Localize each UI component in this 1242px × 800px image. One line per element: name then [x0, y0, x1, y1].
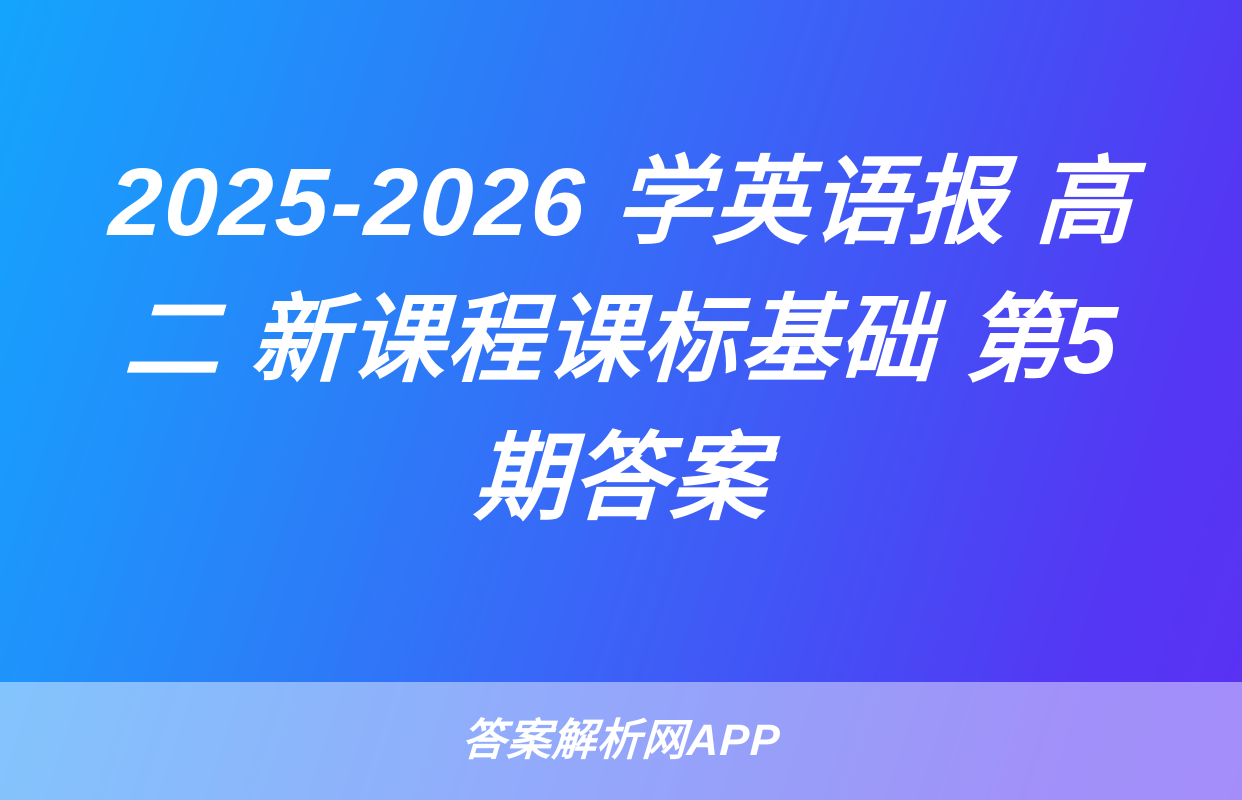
app-footer-band: 答案解析网APP	[0, 682, 1242, 800]
title-line-2: 二 新课程课标基础 第5	[121, 272, 1121, 410]
banner-title-block: 2025-2026 学英语报 高 二 新课程课标基础 第5 期答案	[0, 0, 1242, 682]
answer-banner: 2025-2026 学英语报 高 二 新课程课标基础 第5 期答案 答案解析网A…	[0, 0, 1242, 800]
app-name-label: 答案解析网APP	[460, 717, 781, 765]
title-line-1: 2025-2026 学英语报 高	[106, 134, 1135, 272]
title-line-3: 期答案	[472, 410, 771, 548]
